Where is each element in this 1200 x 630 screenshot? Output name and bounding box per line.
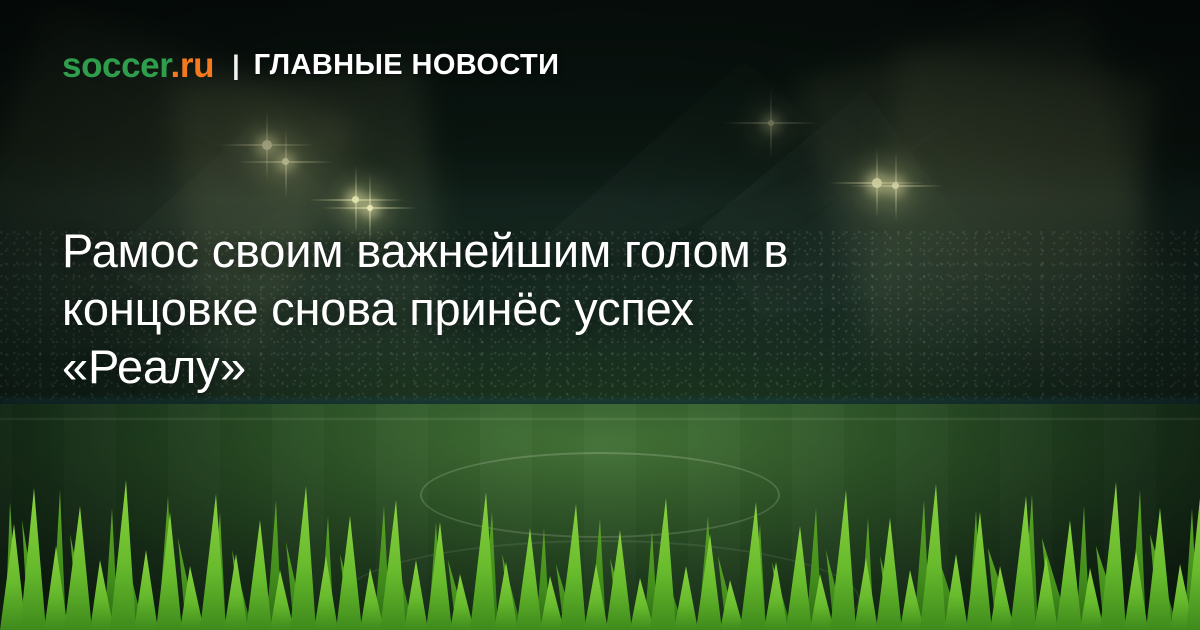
logo-text-suffix: .ru — [171, 46, 215, 85]
article-headline: Рамос своим важнейшим голом в концовке с… — [62, 222, 1022, 396]
headline-line-3: «Реалу» — [62, 338, 1022, 396]
site-logo[interactable]: soccer.ru — [62, 48, 214, 83]
grass-blades-icon — [0, 450, 1200, 630]
header-kicker: ГЛАВНЫЕ НОВОСТИ — [254, 51, 560, 80]
headline-line-2: концовке снова принёс успех — [62, 280, 1022, 338]
grass-foreground — [0, 450, 1200, 630]
headline-line-1: Рамос своим важнейшим голом в — [62, 222, 1022, 280]
site-header: soccer.ru | ГЛАВНЫЕ НОВОСТИ — [62, 48, 559, 83]
header-separator: | — [232, 52, 240, 79]
share-card: soccer.ru | ГЛАВНЫЕ НОВОСТИ Рамос своим … — [0, 0, 1200, 630]
logo-text-primary: soccer — [62, 46, 171, 85]
